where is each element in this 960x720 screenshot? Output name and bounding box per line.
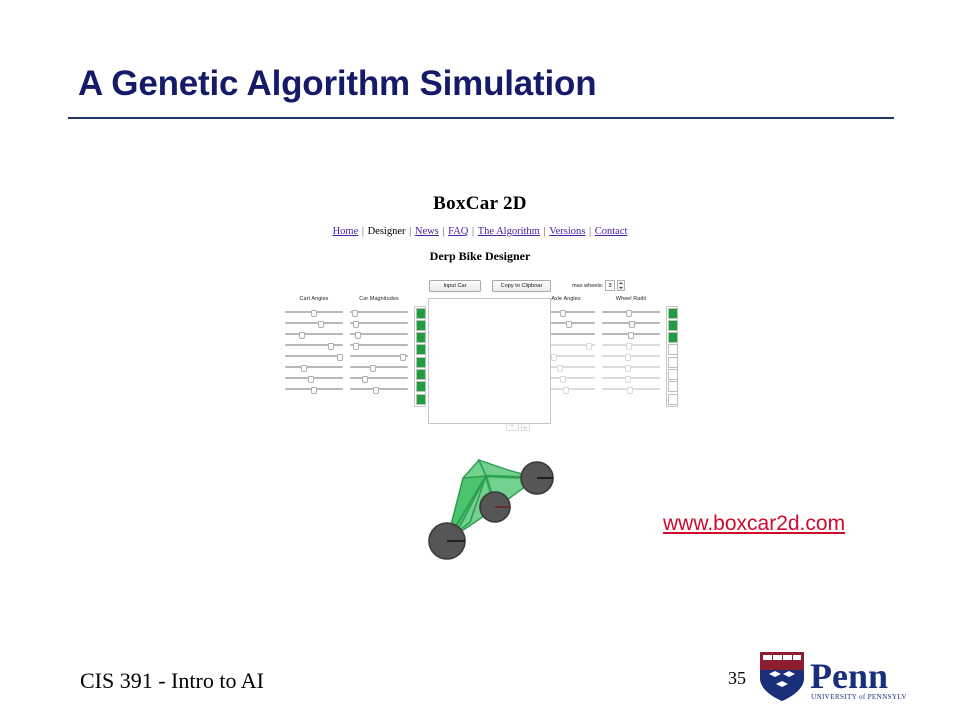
nav-item-designer[interactable]: Designer — [368, 226, 406, 237]
nav-separator: | — [358, 226, 367, 237]
left-swatch-3[interactable] — [416, 332, 426, 343]
wheel-radii-slider-8[interactable] — [602, 384, 660, 395]
nav-separator: | — [468, 226, 477, 237]
slider-thumb[interactable] — [311, 310, 317, 317]
nav-link-news[interactable]: News — [415, 226, 439, 237]
slider-thumb[interactable] — [625, 365, 631, 372]
nav-separator: | — [540, 226, 549, 237]
right-swatch-2[interactable] — [668, 320, 678, 331]
nav-separator: | — [585, 226, 594, 237]
slider-track — [285, 355, 343, 357]
cart-angles-slider-6[interactable] — [285, 362, 343, 373]
page-title: A Genetic Algorithm Simulation — [78, 64, 596, 104]
section-heading: Derp Bike Designer — [262, 249, 698, 264]
car-magnitudes-label: Car Magnitudes — [347, 296, 411, 302]
wheel-radii-slider-5[interactable] — [602, 351, 660, 362]
wheel-radii-slider-2[interactable] — [602, 318, 660, 329]
slider-thumb[interactable] — [328, 343, 334, 350]
slider-thumb[interactable] — [626, 310, 632, 317]
right-swatch-5[interactable] — [668, 357, 678, 368]
footer-course-label: CIS 391 - Intro to AI — [80, 668, 264, 694]
slider-thumb[interactable] — [337, 354, 343, 361]
slider-thumb[interactable] — [353, 343, 359, 350]
left-swatch-8[interactable] — [416, 394, 426, 405]
chevron-down-icon[interactable] — [523, 427, 527, 429]
slider-thumb[interactable] — [353, 321, 359, 328]
wheel-radii-slider-6[interactable] — [602, 362, 660, 373]
max-wheels-label: max wheels: — [572, 283, 603, 289]
max-wheels-value[interactable]: 3 — [605, 280, 615, 291]
left-swatch-4[interactable] — [416, 344, 426, 355]
slider-thumb[interactable] — [629, 321, 635, 328]
max-wheels-control[interactable]: max wheels: 3 — [572, 280, 625, 291]
cart-angles-sliders[interactable] — [285, 307, 343, 395]
nav-link-faq[interactable]: FAQ — [448, 226, 468, 237]
slider-track — [285, 322, 343, 324]
wheel-radii-slider-3[interactable] — [602, 329, 660, 340]
wheel-radii-sliders[interactable] — [602, 307, 660, 395]
car-genome-textarea[interactable] — [428, 298, 551, 424]
slider-thumb[interactable] — [627, 387, 633, 394]
boxcar2d-screenshot: BoxCar 2D Home | Designer | News | FAQ |… — [262, 186, 698, 436]
title-divider — [68, 117, 894, 119]
max-wheels-stepper[interactable] — [617, 280, 625, 291]
cart-angles-label: Cart Angles — [282, 296, 346, 302]
left-swatch-1[interactable] — [416, 308, 426, 319]
car-magnitudes-slider-2[interactable] — [350, 318, 408, 329]
cart-angles-slider-5[interactable] — [285, 351, 343, 362]
cart-angles-slider-8[interactable] — [285, 384, 343, 395]
right-swatch-3[interactable] — [668, 332, 678, 343]
slider-thumb[interactable] — [373, 387, 379, 394]
slider-thumb[interactable] — [560, 376, 566, 383]
input-car-button[interactable]: Input Car — [429, 280, 481, 292]
nav-link-the-algorithm[interactable]: The Algorithm — [478, 226, 540, 237]
page-number: 35 — [728, 668, 746, 689]
slider-thumb[interactable] — [560, 310, 566, 317]
slider-track — [350, 366, 408, 368]
car-magnitudes-slider-7[interactable] — [350, 373, 408, 384]
nav-link-home[interactable]: Home — [333, 226, 359, 237]
slider-thumb[interactable] — [566, 321, 572, 328]
wheel-radii-slider-1[interactable] — [602, 307, 660, 318]
slider-thumb[interactable] — [299, 332, 305, 339]
slider-thumb[interactable] — [625, 354, 631, 361]
penn-wordmark: Penn — [810, 656, 888, 696]
copy-to-clipboard-button[interactable]: Copy to Clipboar — [492, 280, 551, 292]
right-swatch-6[interactable] — [668, 369, 678, 380]
designer-panel: max wheels: 3 Cart Angles Car Magnitudes… — [262, 274, 698, 439]
left-swatch-7[interactable] — [416, 381, 426, 392]
car-magnitudes-slider-4[interactable] — [350, 340, 408, 351]
left-swatch-5[interactable] — [416, 357, 426, 368]
chevron-down-icon[interactable] — [619, 287, 623, 289]
slider-thumb[interactable] — [557, 365, 563, 372]
left-swatch-2[interactable] — [416, 320, 426, 331]
slider-thumb[interactable] — [355, 332, 361, 339]
slider-thumb[interactable] — [370, 365, 376, 372]
slide: A Genetic Algorithm Simulation BoxCar 2D… — [0, 0, 960, 720]
nav-separator: | — [406, 226, 415, 237]
slider-track — [285, 333, 343, 335]
nav-link-contact[interactable]: Contact — [595, 226, 628, 237]
nav-link-versions[interactable]: Versions — [549, 226, 585, 237]
left-color-swatches[interactable] — [414, 306, 426, 407]
slider-thumb[interactable] — [626, 343, 632, 350]
boxcar2d-url-link[interactable]: www.boxcar2d.com — [663, 512, 845, 536]
left-swatch-6[interactable] — [416, 369, 426, 380]
nav-separator: | — [439, 226, 448, 237]
slider-thumb[interactable] — [301, 365, 307, 372]
slider-thumb[interactable] — [586, 343, 592, 350]
cart-angles-slider-7[interactable] — [285, 373, 343, 384]
penn-shield-icon — [760, 652, 804, 701]
cart-angles-slider-1[interactable] — [285, 307, 343, 318]
car-magnitudes-slider-6[interactable] — [350, 362, 408, 373]
penn-logo: Penn UNIVERSITY of PENNSYLVANIA — [758, 648, 906, 708]
slider-thumb[interactable] — [551, 354, 557, 361]
slider-track — [350, 311, 408, 313]
slider-thumb[interactable] — [318, 321, 324, 328]
chevron-up-icon[interactable] — [619, 282, 623, 284]
slider-thumb[interactable] — [362, 376, 368, 383]
wheel-radii-slider-7[interactable] — [602, 373, 660, 384]
car-magnitudes-sliders[interactable] — [350, 307, 408, 395]
right-swatch-7[interactable] — [668, 381, 678, 392]
car-magnitudes-slider-3[interactable] — [350, 329, 408, 340]
cart-angles-slider-3[interactable] — [285, 329, 343, 340]
car-preview — [408, 448, 598, 573]
car-magnitudes-slider-5[interactable] — [350, 351, 408, 362]
site-title: BoxCar 2D — [262, 193, 698, 215]
slider-thumb[interactable] — [311, 387, 317, 394]
penn-tagline: UNIVERSITY of PENNSYLVANIA — [811, 693, 906, 701]
cart-angles-slider-4[interactable] — [285, 340, 343, 351]
site-nav: Home | Designer | News | FAQ | The Algor… — [262, 226, 698, 237]
slider-thumb[interactable] — [628, 332, 634, 339]
slider-track — [285, 366, 343, 368]
slider-track — [350, 355, 408, 357]
slider-thumb[interactable] — [308, 376, 314, 383]
wheel-radii-slider-4[interactable] — [602, 340, 660, 351]
car-magnitudes-slider-8[interactable] — [350, 384, 408, 395]
cart-angles-slider-2[interactable] — [285, 318, 343, 329]
slider-track — [350, 377, 408, 379]
penn-logo-svg: Penn UNIVERSITY of PENNSYLVANIA — [758, 648, 906, 708]
slider-thumb[interactable] — [625, 376, 631, 383]
slider-thumb[interactable] — [400, 354, 406, 361]
right-swatch-8[interactable] — [668, 394, 678, 405]
right-swatch-1[interactable] — [668, 308, 678, 319]
right-swatch-4[interactable] — [668, 344, 678, 355]
slider-thumb[interactable] — [563, 387, 569, 394]
car-preview-svg — [408, 448, 598, 573]
slider-thumb[interactable] — [352, 310, 358, 317]
right-color-swatches[interactable] — [666, 306, 678, 407]
car-magnitudes-slider-1[interactable] — [350, 307, 408, 318]
wheel-radii-label: Wheel Radii — [599, 296, 663, 302]
